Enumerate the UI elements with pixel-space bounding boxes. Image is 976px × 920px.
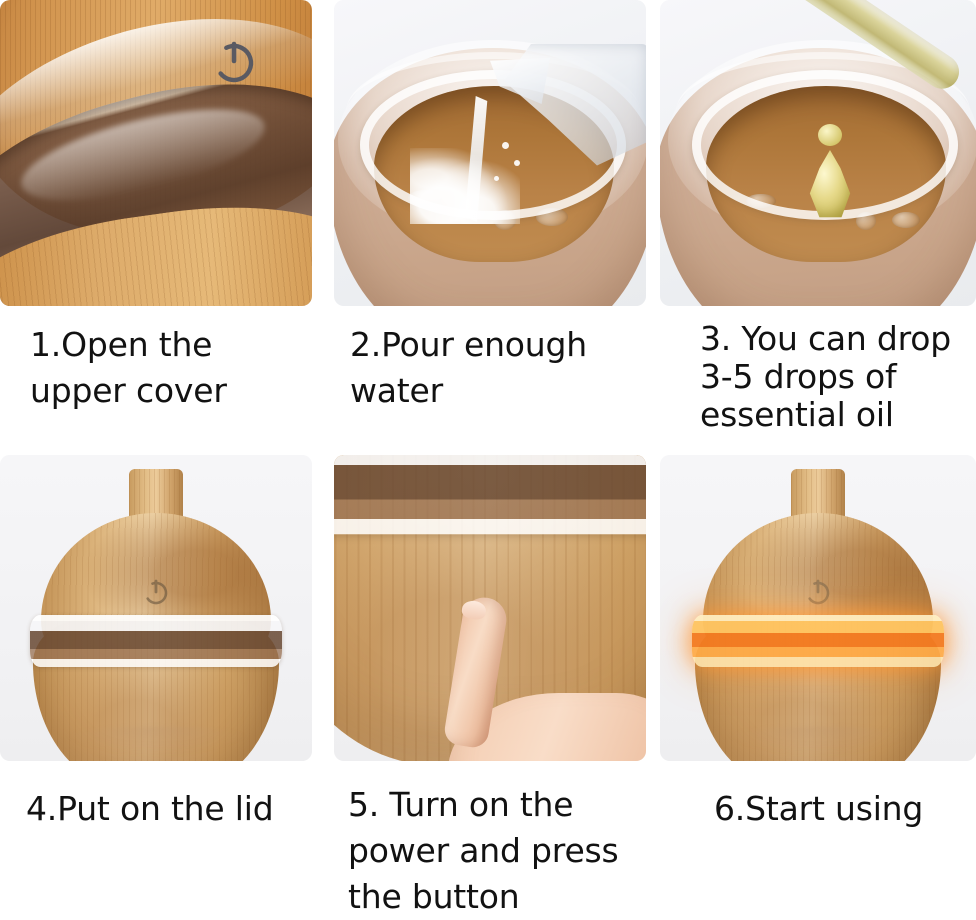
step-image-1: [0, 0, 312, 306]
oil-droplet-small: [818, 124, 842, 146]
step-image-3: [660, 0, 976, 306]
step-image-2: [334, 0, 646, 306]
water-ripple: [892, 212, 920, 228]
led-glass-band: [334, 455, 646, 534]
diffuser-lit-icon: [688, 469, 948, 759]
water-droplet: [514, 160, 520, 166]
step-caption-2: 2.Pour enough water: [350, 322, 650, 414]
water-droplet: [502, 142, 509, 149]
water-splash: [410, 148, 520, 224]
step-caption-1: 1.Open the upper cover: [30, 322, 320, 414]
surface-reflection: [723, 727, 913, 753]
power-icon: [210, 38, 258, 86]
step-image-6: [660, 455, 976, 761]
hand-press-icon: [438, 597, 646, 761]
step-caption-3: 3. You can drop 3-5 drops of essential o…: [700, 320, 976, 434]
step-caption-6: 6.Start using: [714, 786, 976, 832]
diffuser-icon: [26, 469, 286, 759]
pipette-tube: [773, 0, 966, 95]
led-glass-band: [30, 615, 282, 667]
water-droplet: [494, 176, 499, 181]
step-caption-5: 5. Turn on the power and press the butto…: [348, 782, 658, 920]
instruction-infographic: 1.Open the upper cover 2.Pour enough wat…: [0, 0, 976, 917]
step-image-4: [0, 455, 312, 761]
step-image-5: [334, 455, 646, 761]
led-glass-band-lit: [692, 615, 944, 667]
surface-reflection: [61, 727, 251, 753]
power-icon: [141, 577, 171, 607]
step-caption-4: 4.Put on the lid: [26, 786, 326, 832]
